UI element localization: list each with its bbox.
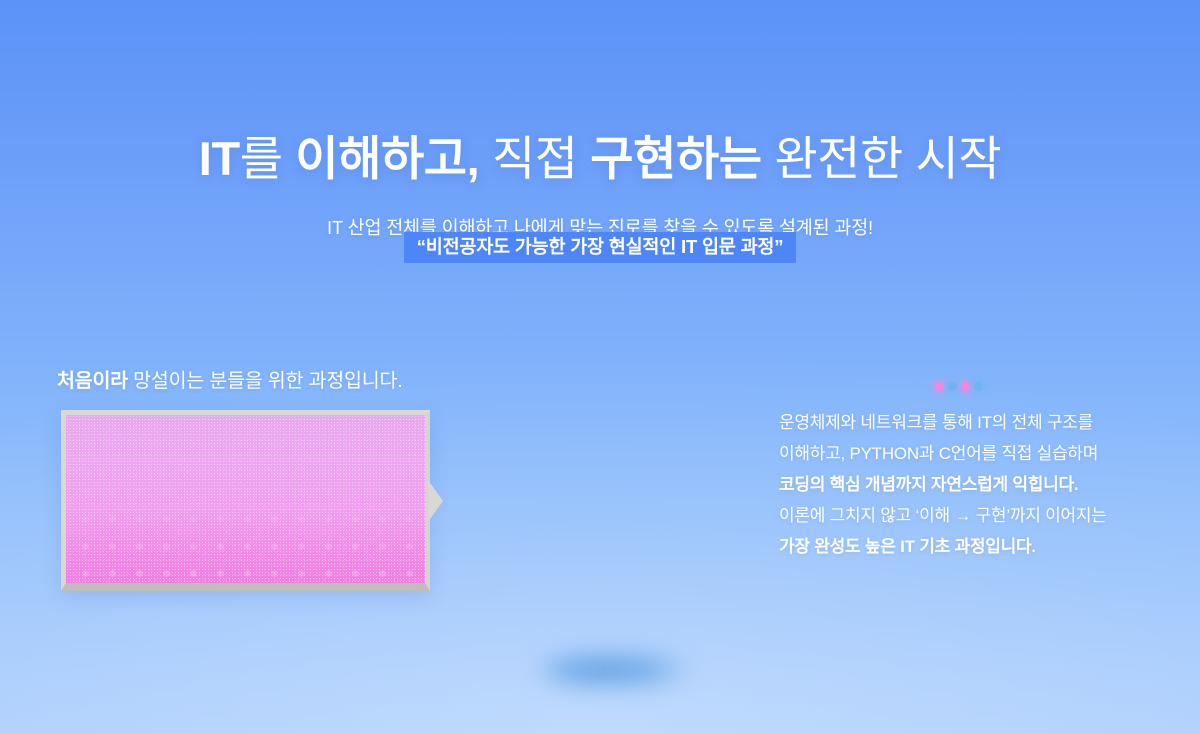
page-title: IT를 이해하고, 직접 구현하는 완전한 시작: [0, 129, 1200, 189]
headline-part-start: 완전한 시작: [762, 132, 1002, 185]
section-heading-emphasis: 처음이라: [57, 370, 128, 392]
dot-pink-icon-1: [935, 382, 944, 391]
tagline-badge: “비전공자도 가능한 가장 현실적인 IT 입문 과정”: [404, 232, 797, 263]
blurred-watermark: [535, 655, 693, 685]
card-speech-tail-icon: [428, 480, 443, 522]
card-dot-pattern: [66, 415, 425, 583]
section-heading-rest: 망설이는 분들을 위한 과정입니다.: [128, 370, 402, 392]
section-heading: 처음이라 망설이는 분들을 위한 과정입니다.: [57, 367, 402, 395]
tagline-row: “비전공자도 가능한 가장 현실적인 IT 입문 과정”: [0, 232, 1200, 263]
description-line-4: 이론에 그치지 않고 ‘이해 → 구현’까지 이어지는: [779, 500, 1159, 531]
course-visual-card: [61, 410, 430, 591]
dot-blue-icon-1: [948, 382, 957, 391]
dot-pink-icon-2: [961, 382, 970, 391]
course-description: 운영체제와 네트워크를 통해 IT의 전체 구조를 이해하고, PYTHON과 …: [779, 407, 1159, 562]
dot-blue-icon-2: [974, 382, 983, 391]
description-line-5: 가장 완성도 높은 IT 기초 과정입니다.: [779, 531, 1159, 562]
headline-part-implement: 구현하는: [590, 132, 761, 185]
hero-section: IT를 이해하고, 직접 구현하는 완전한 시작 IT 산업 전체를 이해하고 …: [0, 0, 1200, 734]
description-line-2: 이해하고, PYTHON과 C언어를 직접 실습하며: [779, 438, 1159, 469]
decorative-dot-cluster: [935, 381, 983, 393]
headline-part-understand: 이해하고,: [295, 132, 479, 185]
headline-part-particle: 를: [240, 132, 296, 185]
card-noise-texture: [66, 415, 425, 583]
headline-part-it: IT: [199, 132, 240, 185]
description-line-1: 운영체제와 네트워크를 통해 IT의 전체 구조를: [779, 407, 1159, 438]
headline-part-direct: 직접: [479, 132, 590, 185]
description-line-3: 코딩의 핵심 개념까지 자연스럽게 익힙니다.: [779, 469, 1159, 500]
